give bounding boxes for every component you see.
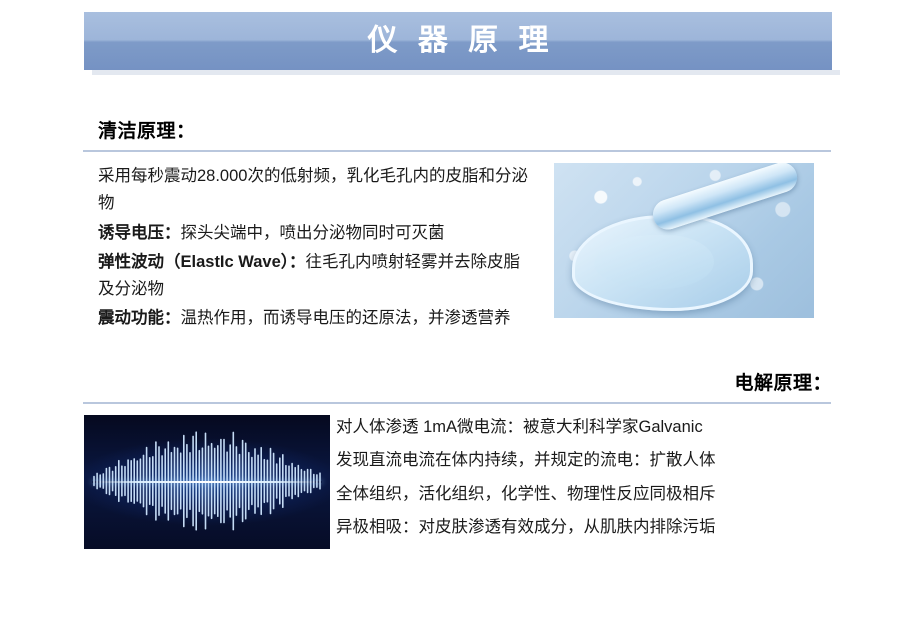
waveform-photo bbox=[84, 415, 330, 549]
section-1-line-3: 弹性波动（ElastIc Wave）：往毛孔内喷射轻雾并去除皮脂及分泌物 bbox=[98, 249, 530, 302]
banner-shadow bbox=[92, 70, 840, 75]
page-title: 仪 器 原 理 bbox=[361, 26, 554, 56]
probe-device-photo bbox=[554, 163, 814, 318]
section-2-line-2: 发现直流电流在体内持续，并规定的流电：扩散人体 bbox=[336, 444, 836, 477]
section-1-divider bbox=[83, 150, 831, 152]
section-1-line-3-rest: 往毛孔内喷射轻雾 bbox=[306, 253, 438, 271]
section-1-line-2-key: 诱导电压： bbox=[98, 224, 181, 242]
page-banner: 仪 器 原 理 bbox=[84, 12, 832, 70]
section-1-line-1: 采用每秒震动28.000次的低射频，乳化毛孔内的皮脂和分泌物 bbox=[98, 163, 530, 216]
section-1-line-4-key: 震动功能： bbox=[98, 309, 181, 327]
section-1-heading: 清洁原理： bbox=[98, 116, 196, 143]
section-1-line-2-rest: 探头尖端中，喷出分泌物同时可灭菌 bbox=[181, 224, 445, 242]
waveform-centerline bbox=[92, 481, 322, 483]
section-1-line-4: 震动功能：温热作用，而诱导电压的还原法，并渗透营养 bbox=[98, 305, 530, 332]
section-1-line-1-text: 采用每秒震动28.000次的低射频，乳化毛孔内的皮脂和分泌物 bbox=[98, 167, 528, 212]
section-1-line-4-cont: 渗透营养 bbox=[445, 309, 511, 327]
section-2-line-1: 对人体渗透 1mA微电流：被意大利科学家Galvanic bbox=[336, 411, 836, 444]
section-1-body: 采用每秒震动28.000次的低射频，乳化毛孔内的皮脂和分泌物 诱导电压：探头尖端… bbox=[98, 163, 530, 333]
document-page: 仪 器 原 理 清洁原理： 采用每秒震动28.000次的低射频，乳化毛孔内的皮脂… bbox=[0, 0, 915, 621]
section-2-heading: 电解原理： bbox=[734, 368, 832, 395]
section-2-line-3: 全体组织，活化组织，化学性、物理性反应同极相斥 bbox=[336, 478, 836, 511]
section-1-line-2: 诱导电压：探头尖端中，喷出分泌物同时可灭菌 bbox=[98, 220, 530, 247]
section-2-line-4: 异极相吸：对皮肤渗透有效成分，从肌肤内排除污垢 bbox=[336, 511, 836, 544]
section-2-body: 对人体渗透 1mA微电流：被意大利科学家Galvanic 发现直流电流在体内持续… bbox=[336, 411, 836, 545]
probe-head-inner-shape bbox=[594, 235, 714, 289]
section-1-line-3-key: 弹性波动（ElastIc Wave）： bbox=[98, 253, 306, 271]
section-2-divider bbox=[83, 402, 831, 404]
section-1-line-4-rest: 温热作用，而诱导电压的还原法，并 bbox=[181, 309, 445, 327]
